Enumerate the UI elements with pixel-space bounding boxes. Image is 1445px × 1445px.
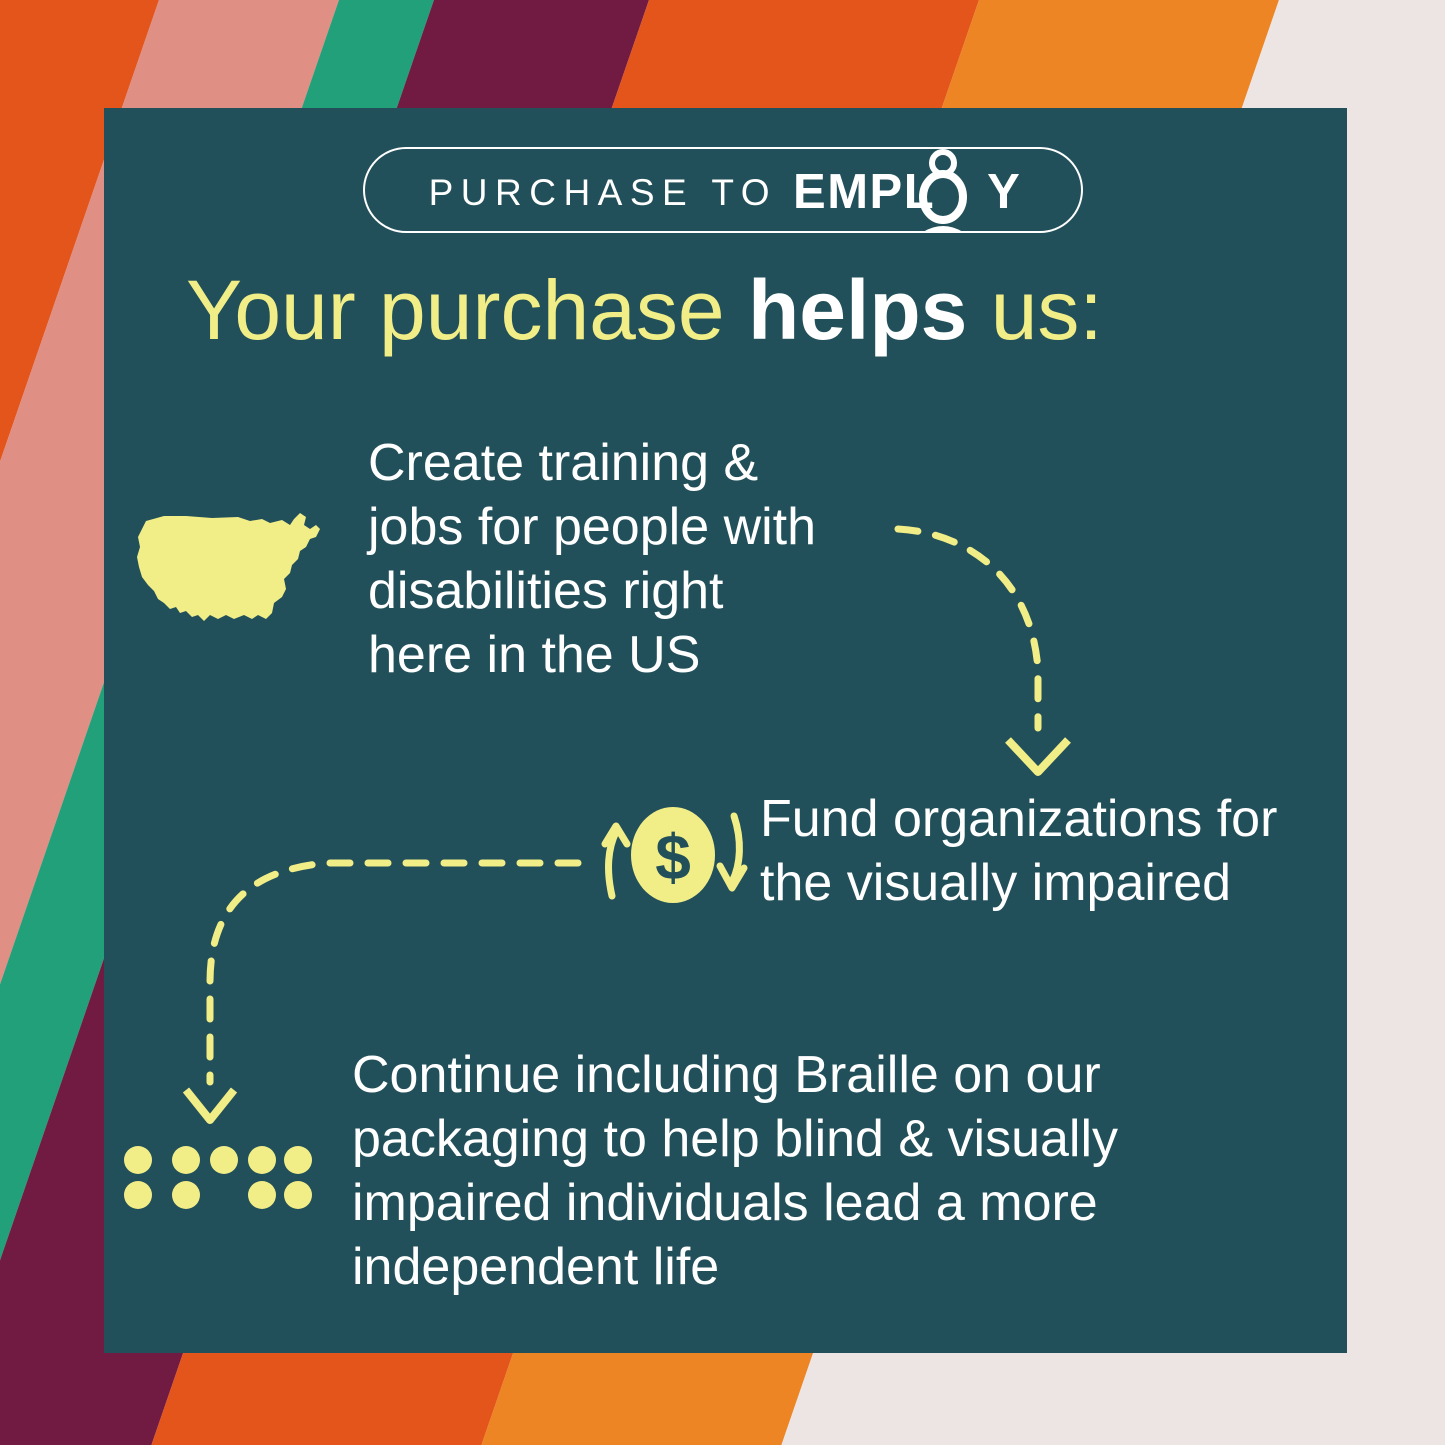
bullet-line: disabilities right [368, 560, 888, 624]
bullet-line: jobs for people with [368, 496, 888, 560]
bullet-line: Fund organizations for [760, 788, 1330, 852]
bullet-text-create-jobs: Create training &jobs for people withdis… [368, 432, 888, 688]
brand-wordmark-before: EMPL [793, 165, 935, 219]
bullet-text-braille-packaging: Continue including Braille on ourpackagi… [352, 1044, 1162, 1300]
brand-badge: PURCHASE TO EMPLY [363, 147, 1083, 233]
infographic-canvas: PURCHASE TO EMPLY Your purchase helps us… [0, 0, 1445, 1445]
dollar-coin-icon: $ [592, 800, 754, 910]
title-part-1: Your purchase [186, 263, 748, 357]
bullet-line: impaired individuals lead a more [352, 1172, 1162, 1236]
bullet-line: here in the US [368, 624, 888, 688]
bullet-line: packaging to help blind & visually [352, 1108, 1162, 1172]
brand-wordmark-after: Y [987, 165, 1021, 219]
bullet-line: Continue including Braille on our [352, 1044, 1162, 1108]
page-title: Your purchase helps us: [186, 268, 1276, 352]
content-panel: PURCHASE TO EMPLY Your purchase helps us… [104, 108, 1347, 1353]
title-part-2: helps [748, 263, 967, 357]
usa-map-icon [134, 503, 339, 631]
svg-text:$: $ [655, 821, 691, 893]
bullet-line: independent life [352, 1236, 1162, 1300]
dashed-curved-arrow-down-icon [880, 500, 1110, 790]
bullet-line: Create training & [368, 432, 888, 496]
bullet-line: the visually impaired [760, 852, 1330, 916]
braille-dots-icon [122, 1143, 312, 1211]
brand-prefix: PURCHASE TO [429, 174, 777, 211]
bullet-text-fund-organizations: Fund organizations forthe visually impai… [760, 788, 1330, 916]
title-part-3: us: [967, 263, 1102, 357]
brand-badge-text: PURCHASE TO EMPLY [365, 149, 1085, 235]
brand-wordmark: EMPLY [793, 168, 1021, 217]
